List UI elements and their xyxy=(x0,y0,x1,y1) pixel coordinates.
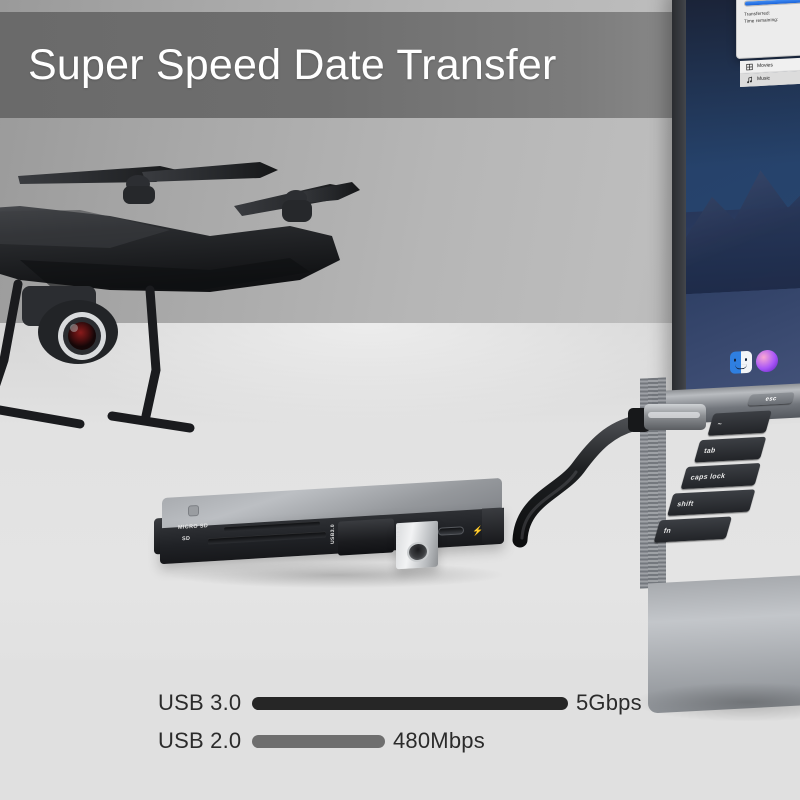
finder-icon[interactable] xyxy=(730,351,752,374)
speed-label-usb2: USB 2.0 xyxy=(158,728,252,754)
sd-label: SD xyxy=(182,536,190,542)
siri-icon[interactable] xyxy=(756,349,778,372)
list-item-label: Music xyxy=(757,75,770,82)
usb-c-port[interactable] xyxy=(438,526,464,536)
speed-row-usb3: USB 3.0 5Gbps xyxy=(0,684,800,722)
speed-bar-usb3 xyxy=(252,697,568,710)
hub-end-cap-right xyxy=(482,507,504,544)
progress-bar-fill xyxy=(745,0,800,6)
speed-row-usb2: USB 2.0 480Mbps xyxy=(0,722,800,760)
hub-shadow xyxy=(172,562,502,588)
speed-value-usb3: 5Gbps xyxy=(576,690,642,716)
music-note-icon xyxy=(746,76,753,83)
finder-sidebar: Movies Music xyxy=(740,55,800,87)
speed-comparison-chart: USB 3.0 5Gbps USB 2.0 480Mbps xyxy=(0,684,800,774)
transfer-dialog: Wait Transferred: Time remaining: xyxy=(736,0,800,59)
laptop: Wait Transferred: Time remaining: Movies xyxy=(652,0,800,742)
progress-bar-track xyxy=(744,0,800,7)
speed-value-usb2: 480Mbps xyxy=(393,728,485,754)
macos-dock[interactable] xyxy=(730,349,778,374)
usb-a-port-2-label: USB3.0 xyxy=(396,524,402,544)
page-title: Super Speed Date Transfer xyxy=(28,41,556,90)
drone-illustration xyxy=(0,140,380,440)
usb-a-port-1-label: USB3.0 xyxy=(330,524,336,544)
usb-c-cable xyxy=(500,380,720,570)
speed-bar-usb2 xyxy=(252,735,385,748)
usb-hub-device: MICRO SD SD USB3.0 USB3.0 ⚡ xyxy=(152,488,512,608)
key-esc[interactable]: esc xyxy=(748,392,795,405)
list-item-label: Movies xyxy=(757,62,773,69)
movies-icon xyxy=(746,63,753,70)
product-marketing-image: Super Speed Date Transfer xyxy=(0,0,800,800)
port-housing-block xyxy=(338,518,394,555)
brand-logo-icon xyxy=(188,505,199,517)
speed-label-usb3: USB 3.0 xyxy=(158,690,252,716)
